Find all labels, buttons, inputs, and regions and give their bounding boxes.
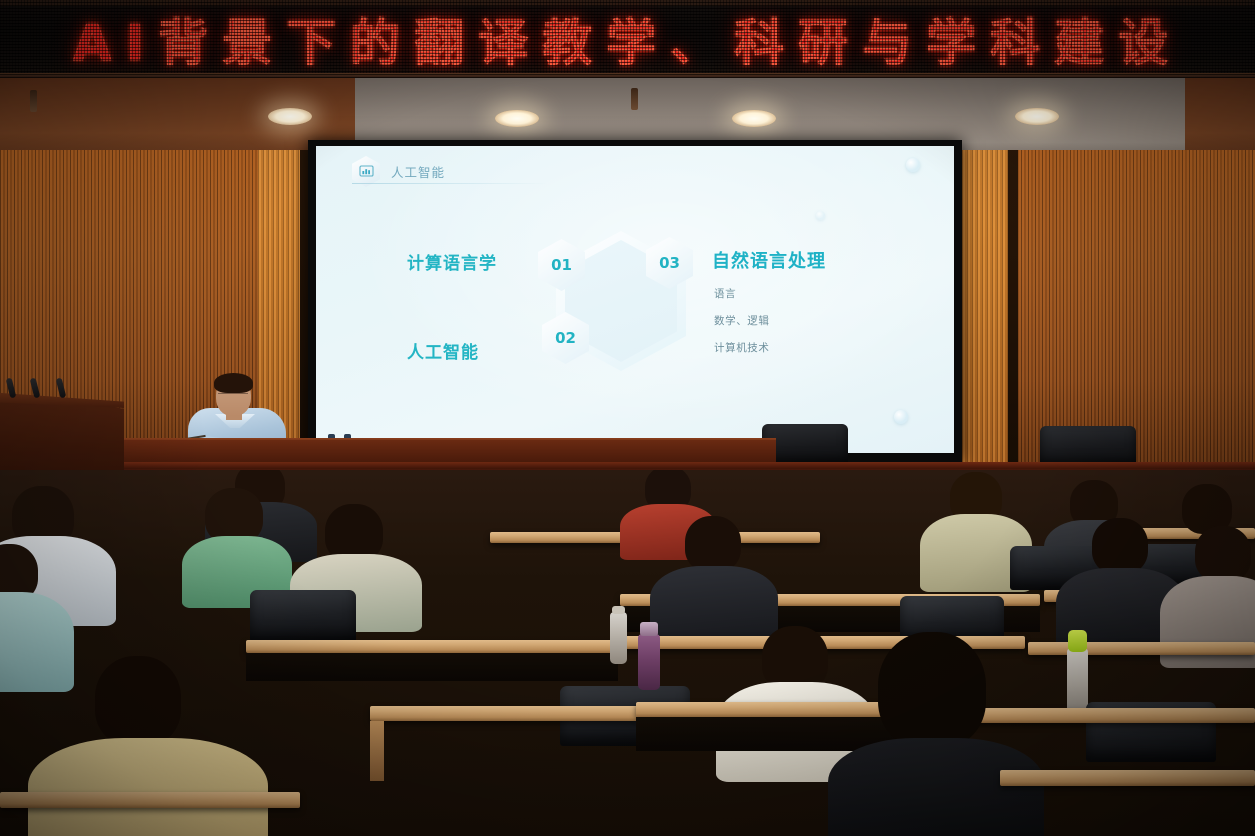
lecture-hall-photo: AI背景下的翻译教学、科研与学科建设: [0, 0, 1255, 836]
desk-row5-right: [1000, 770, 1255, 786]
slide-header-label: 人工智能: [391, 162, 445, 181]
desk-row5-left: [0, 792, 300, 808]
downlight-3: [732, 110, 776, 127]
thermos-purple-cap: [640, 622, 658, 636]
person-head: [1092, 518, 1148, 574]
slide-label-artificial-intelligence: 人工智能: [407, 338, 479, 363]
person-head: [1195, 526, 1251, 582]
person-head: [685, 516, 741, 572]
led-banner-text: AI背景下的翻译教学、科研与学科建设: [73, 3, 1182, 75]
audience-area: [0, 470, 1255, 836]
slide-header-rule: [352, 183, 548, 184]
speaker-glasses: [218, 393, 248, 401]
desk-row4-right: [962, 708, 1255, 723]
chair-row3-a: [250, 590, 356, 642]
wall-right-shadow-gap: [1008, 150, 1018, 480]
wall-right-lit-column: [962, 150, 1010, 480]
person-head: [95, 656, 181, 746]
thermos-purple: [638, 634, 660, 690]
downlight-4: [1015, 108, 1059, 125]
slide-bullet-1: 语言: [714, 286, 736, 301]
slide-bullet-2: 数学、逻辑: [714, 313, 770, 328]
downlight-1: [268, 108, 312, 125]
decorative-bubble-3: [894, 410, 908, 424]
person-head: [878, 632, 986, 748]
led-banner: AI背景下的翻译教学、科研与学科建设: [0, 0, 1255, 78]
stage-trim-upper: [0, 462, 1255, 469]
slide-label-computational-linguistics: 计算语言学: [407, 249, 497, 274]
desk-row3-right: [1028, 642, 1255, 655]
downlight-2: [495, 110, 539, 127]
desk-row4-left-side: [370, 721, 384, 781]
slide-bullet-3: 计算机技术: [714, 340, 770, 355]
person-body: [0, 592, 74, 692]
person-body: [650, 566, 778, 646]
person-body: [28, 738, 268, 836]
person-body: [828, 738, 1044, 836]
sprinkler-1: [30, 90, 37, 112]
stage-chair-2: [1040, 426, 1136, 466]
speaker-hair: [214, 373, 253, 393]
sprinkler-2: [631, 88, 638, 110]
desk-row3-left: [246, 640, 618, 653]
thermos-steel: [610, 612, 627, 664]
slide-label-nlp-title: 自然语言处理: [712, 247, 826, 273]
thermos-steel-cap: [612, 606, 625, 614]
decorative-bubble-2: [816, 211, 825, 220]
projection-screen: 人工智能 01 02 03 计算语言学 人工智能 自然语言处理 语言 数学、逻辑…: [316, 146, 954, 453]
desk-row4-left: [370, 706, 640, 721]
decorative-bubble-1: [906, 158, 920, 172]
thermos-green-cap: [1068, 630, 1087, 652]
desk-row3-front-panel: [246, 653, 618, 681]
